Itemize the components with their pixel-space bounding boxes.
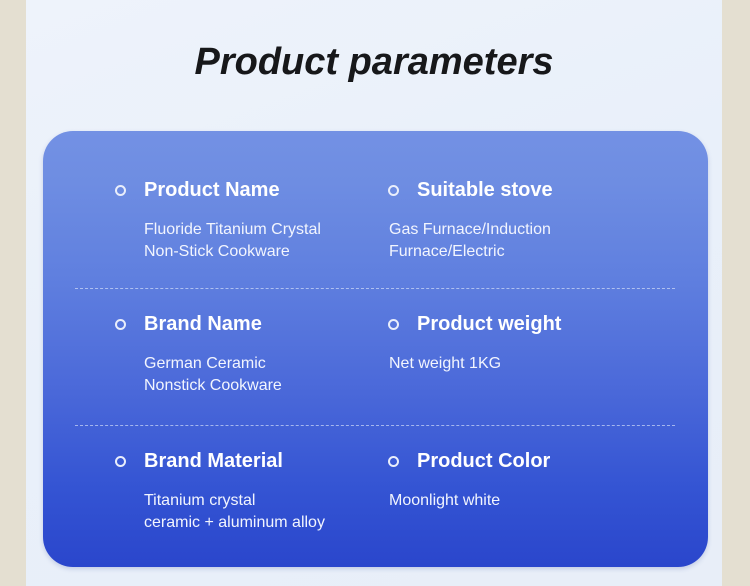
ring-bullet-icon	[115, 456, 126, 467]
right-edge-strip	[722, 0, 750, 586]
parameter-value: Fluoride Titanium Crystal Non-Stick Cook…	[144, 219, 336, 263]
ring-bullet-icon	[388, 319, 399, 330]
parameter-row: Brand Material Titanium crystal ceramic …	[43, 448, 708, 534]
parameter-header: Product weight	[388, 311, 708, 337]
parameter-label: Brand Name	[144, 312, 262, 336]
parameter-value-line: Fluoride Titanium Crystal	[144, 219, 336, 241]
ring-bullet-icon	[115, 185, 126, 196]
row-divider	[75, 425, 675, 426]
parameter-value: German Ceramic Nonstick Cookware	[144, 353, 336, 397]
parameter-header: Brand Material	[115, 448, 336, 474]
row-divider	[75, 288, 675, 289]
parameter-item: Suitable stove Gas Furnace/Induction Fur…	[336, 177, 708, 263]
parameter-value-line: Gas Furnace/Induction	[389, 219, 708, 241]
parameters-card: Product Name Fluoride Titanium Crystal N…	[43, 131, 708, 567]
parameter-value-line: Moonlight white	[389, 490, 708, 512]
parameter-header: Product Color	[388, 448, 708, 474]
parameter-value-line: Titanium crystal	[144, 490, 336, 512]
parameter-value-line: Furnace/Electric	[389, 241, 708, 263]
parameter-label: Product weight	[417, 312, 561, 336]
parameter-value-line: Nonstick Cookware	[144, 375, 336, 397]
parameter-item: Brand Name German Ceramic Nonstick Cookw…	[43, 311, 336, 397]
parameter-item: Product weight Net weight 1KG	[336, 311, 708, 397]
parameter-item: Product Name Fluoride Titanium Crystal N…	[43, 177, 336, 263]
parameter-header: Product Name	[115, 177, 336, 203]
left-edge-strip	[0, 0, 26, 586]
parameter-item: Product Color Moonlight white	[336, 448, 708, 534]
parameter-header: Brand Name	[115, 311, 336, 337]
parameter-label: Product Name	[144, 178, 280, 202]
product-parameters-page: Product parameters Product Name Fluoride…	[0, 0, 750, 586]
ring-bullet-icon	[115, 319, 126, 330]
ring-bullet-icon	[388, 456, 399, 467]
parameter-value: Gas Furnace/Induction Furnace/Electric	[389, 219, 708, 263]
ring-bullet-icon	[388, 185, 399, 196]
parameter-value-line: German Ceramic	[144, 353, 336, 375]
parameter-value: Moonlight white	[389, 490, 708, 512]
parameter-header: Suitable stove	[388, 177, 708, 203]
parameter-row: Brand Name German Ceramic Nonstick Cookw…	[43, 311, 708, 397]
parameter-value-line: ceramic + aluminum alloy	[144, 512, 336, 534]
parameter-label: Suitable stove	[417, 178, 553, 202]
parameter-value: Titanium crystal ceramic + aluminum allo…	[144, 490, 336, 534]
parameter-item: Brand Material Titanium crystal ceramic …	[43, 448, 336, 534]
parameters-grid: Product Name Fluoride Titanium Crystal N…	[43, 131, 708, 567]
parameter-value-line: Net weight 1KG	[389, 353, 708, 375]
parameter-row: Product Name Fluoride Titanium Crystal N…	[43, 177, 708, 263]
parameter-value: Net weight 1KG	[389, 353, 708, 375]
parameter-label: Brand Material	[144, 449, 283, 473]
page-title: Product parameters	[26, 38, 722, 86]
parameter-label: Product Color	[417, 449, 550, 473]
parameter-value-line: Non-Stick Cookware	[144, 241, 336, 263]
